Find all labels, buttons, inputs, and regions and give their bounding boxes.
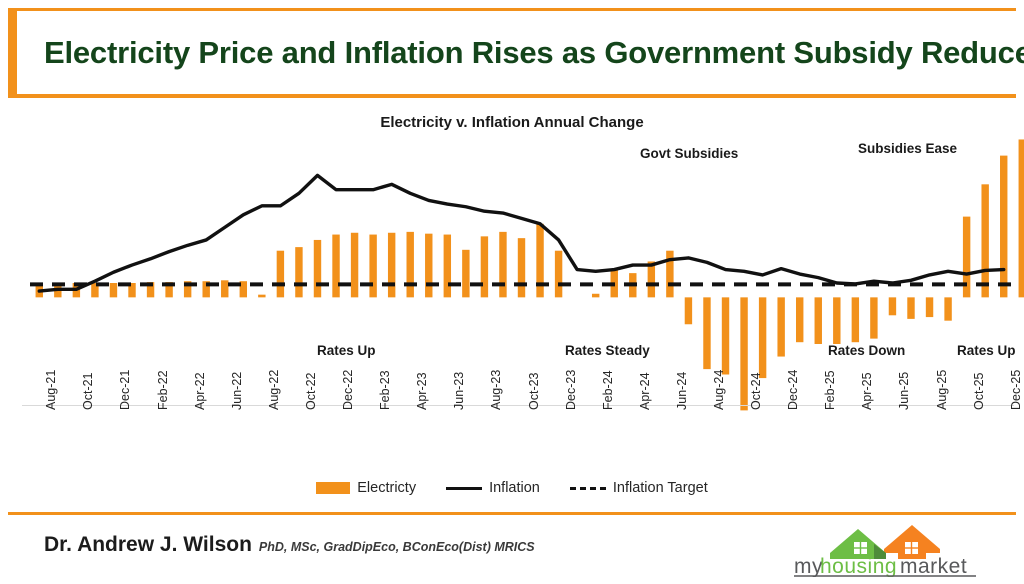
x-tick-Aug-22: Aug-22 (267, 370, 281, 410)
bar-Feb-25 (815, 297, 822, 344)
bar-Feb-23 (369, 235, 376, 298)
bar-May-25 (870, 297, 877, 338)
legend-item-inflation: Inflation (446, 480, 540, 496)
x-tick-Feb-23: Feb-23 (378, 370, 392, 410)
bar-Mar-25 (833, 297, 840, 344)
x-tick-Jun-23: Jun-23 (452, 372, 466, 410)
x-tick-Dec-25: Dec-25 (1009, 370, 1023, 410)
bar-Oct-22 (295, 247, 302, 297)
bar-Jun-25 (889, 297, 896, 315)
bar-Dec-22 (332, 235, 339, 298)
legend-swatch-line-icon (446, 487, 482, 490)
legend-label-electricty: Electricty (357, 480, 416, 496)
x-tick-Apr-25: Apr-25 (860, 372, 874, 410)
bar-Oct-24 (740, 297, 747, 410)
x-tick-Jun-25: Jun-25 (897, 372, 911, 410)
x-tick-Jun-24: Jun-24 (675, 372, 689, 410)
bar-Sep-25 (944, 297, 951, 320)
svg-text:my: my (794, 555, 823, 577)
bar-Sep-23 (499, 232, 506, 297)
plot-area (30, 100, 1013, 405)
bar-Aug-24 (703, 297, 710, 369)
bar-Jul-25 (907, 297, 914, 319)
bar-Apr-23 (407, 232, 414, 297)
slide-footer: Dr. Andrew J. Wilson PhD, MSc, GradDipEc… (0, 515, 1024, 584)
myhousingmarket-logo: my housing market (788, 523, 984, 577)
x-tick-Dec-24: Dec-24 (786, 370, 800, 410)
x-tick-Aug-21: Aug-21 (44, 370, 58, 410)
legend-item-electricty: Electricty (316, 480, 416, 496)
bar-Jul-24 (685, 297, 692, 324)
bar-Feb-24 (592, 294, 599, 298)
bar-Aug-23 (481, 236, 488, 297)
author-name: Dr. Andrew J. Wilson (44, 533, 252, 557)
chart-container: Electricity v. Inflation Annual Change G… (0, 100, 1024, 512)
bar-Nov-25 (981, 184, 988, 297)
logo-graphic-icon: my housing market (788, 523, 984, 577)
svg-text:market: market (900, 555, 967, 577)
bar-May-23 (425, 234, 432, 298)
bar-Jun-22 (221, 280, 228, 297)
x-tick-Oct-22: Oct-22 (304, 372, 318, 410)
x-tick-Oct-25: Oct-25 (972, 372, 986, 410)
x-tick-Aug-25: Aug-25 (935, 370, 949, 410)
bar-Mar-23 (388, 233, 395, 298)
bar-Oct-23 (518, 238, 525, 297)
bar-Dec-21 (110, 283, 117, 297)
x-tick-Oct-24: Oct-24 (749, 372, 763, 410)
x-tick-Oct-23: Oct-23 (527, 372, 541, 410)
bar-Sep-22 (277, 251, 284, 298)
legend-item-inflation-target: Inflation Target (570, 480, 708, 496)
x-tick-Dec-22: Dec-22 (341, 370, 355, 410)
author-block: Dr. Andrew J. Wilson PhD, MSc, GradDipEc… (44, 533, 535, 557)
chart-svg (30, 100, 1013, 405)
bar-undefined (1019, 139, 1024, 297)
x-tick-Dec-23: Dec-23 (564, 370, 578, 410)
svg-text:housing: housing (820, 555, 897, 577)
legend-swatch-dashed-icon (570, 487, 606, 490)
bar-Jan-23 (351, 233, 358, 298)
bar-Jun-24 (666, 251, 673, 298)
legend-swatch-bar-icon (316, 482, 350, 494)
x-tick-Apr-22: Apr-22 (193, 372, 207, 410)
bar-Sep-24 (722, 297, 729, 374)
legend-label-inflation: Inflation (489, 480, 540, 496)
author-credentials: PhD, MSc, GradDipEco, BConEco(Dist) MRIC… (259, 540, 535, 554)
x-tick-Feb-22: Feb-22 (156, 370, 170, 410)
chart-legend: Electricty Inflation Inflation Target (0, 475, 1024, 501)
bar-Dec-24 (777, 297, 784, 356)
bar-Aug-25 (926, 297, 933, 317)
bar-Jun-23 (444, 235, 451, 298)
x-tick-Aug-23: Aug-23 (489, 370, 503, 410)
x-tick-Oct-21: Oct-21 (81, 372, 95, 410)
slide-root: Electricity Price and Inflation Rises as… (0, 0, 1024, 584)
x-tick-Apr-23: Apr-23 (415, 372, 429, 410)
bar-Dec-23 (555, 251, 562, 298)
x-tick-Jun-22: Jun-22 (230, 372, 244, 410)
slide-title-band: Electricity Price and Inflation Rises as… (8, 8, 1016, 98)
bar-Apr-25 (852, 297, 859, 342)
x-tick-Feb-25: Feb-25 (823, 370, 837, 410)
bar-Nov-24 (759, 297, 766, 378)
legend-label-inflation-target: Inflation Target (613, 480, 708, 496)
bar-Nov-22 (314, 240, 321, 297)
bar-May-24 (648, 261, 655, 297)
x-tick-Aug-24: Aug-24 (712, 370, 726, 410)
x-tick-Dec-21: Dec-21 (118, 370, 132, 410)
bar-Jul-23 (462, 250, 469, 298)
x-tick-Apr-24: Apr-24 (638, 372, 652, 410)
bar-Jan-25 (796, 297, 803, 342)
x-tick-Feb-24: Feb-24 (601, 370, 615, 410)
x-axis-tick-labels: Aug-21Oct-21Dec-21Feb-22Apr-22Jun-22Aug-… (0, 408, 1024, 476)
bar-Dec-25 (1000, 156, 1007, 298)
page-title: Electricity Price and Inflation Rises as… (17, 35, 1024, 71)
bar-Aug-22 (258, 295, 265, 298)
